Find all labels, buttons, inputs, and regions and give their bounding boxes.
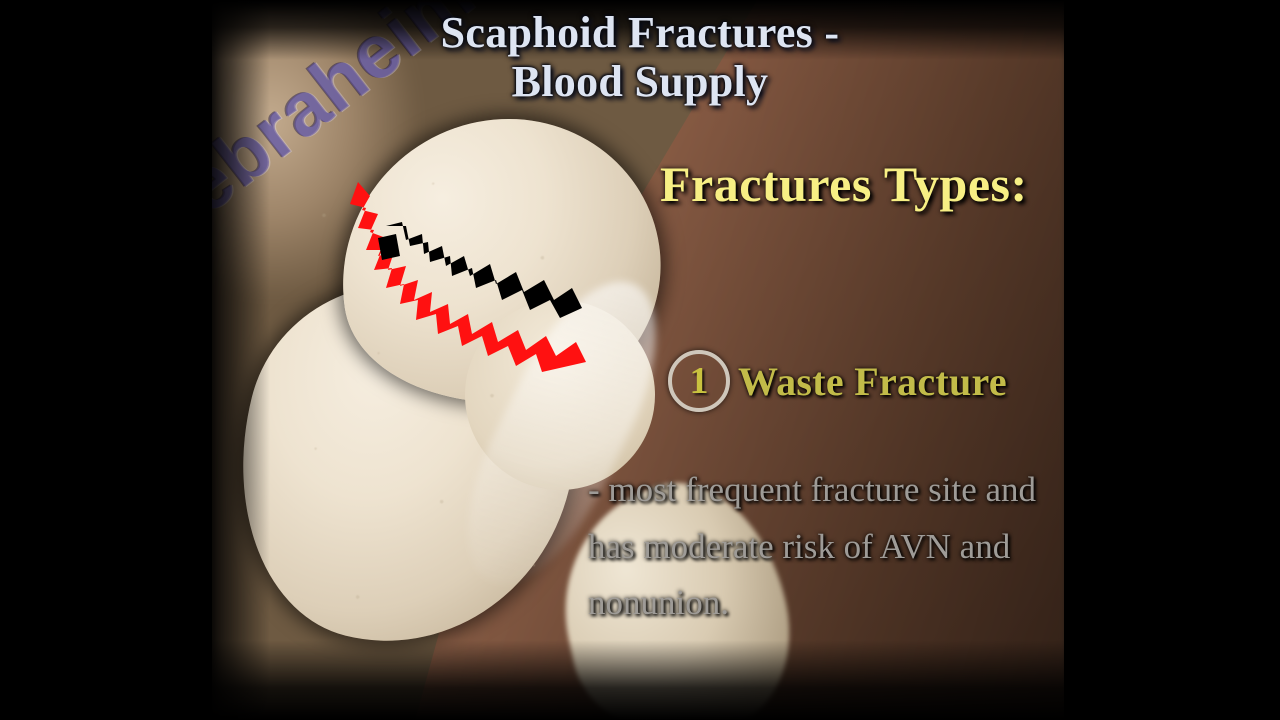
- vignette-left: [200, 0, 270, 720]
- slide-title-line-1: Scaphoid Fractures -: [0, 8, 1280, 57]
- slide-title: Scaphoid Fractures - Blood Supply: [0, 8, 1280, 107]
- list-item-number: 1: [690, 362, 709, 400]
- letterbox-right: [1064, 0, 1280, 720]
- letterbox-left: [0, 0, 212, 720]
- list-item-waste-fracture: 1 Waste Fracture: [668, 350, 1007, 412]
- slide-title-line-2: Blood Supply: [0, 57, 1280, 106]
- list-item-description: - most frequent fracture site and has mo…: [588, 462, 1058, 632]
- list-item-number-badge: 1: [668, 350, 730, 412]
- slide-canvas: nabilebraheim@gmail.com Scaphoid Fractur…: [0, 0, 1280, 720]
- list-item-label: Waste Fracture: [738, 358, 1007, 405]
- section-heading: Fractures Types:: [660, 155, 1028, 213]
- vignette-bottom: [200, 640, 1080, 720]
